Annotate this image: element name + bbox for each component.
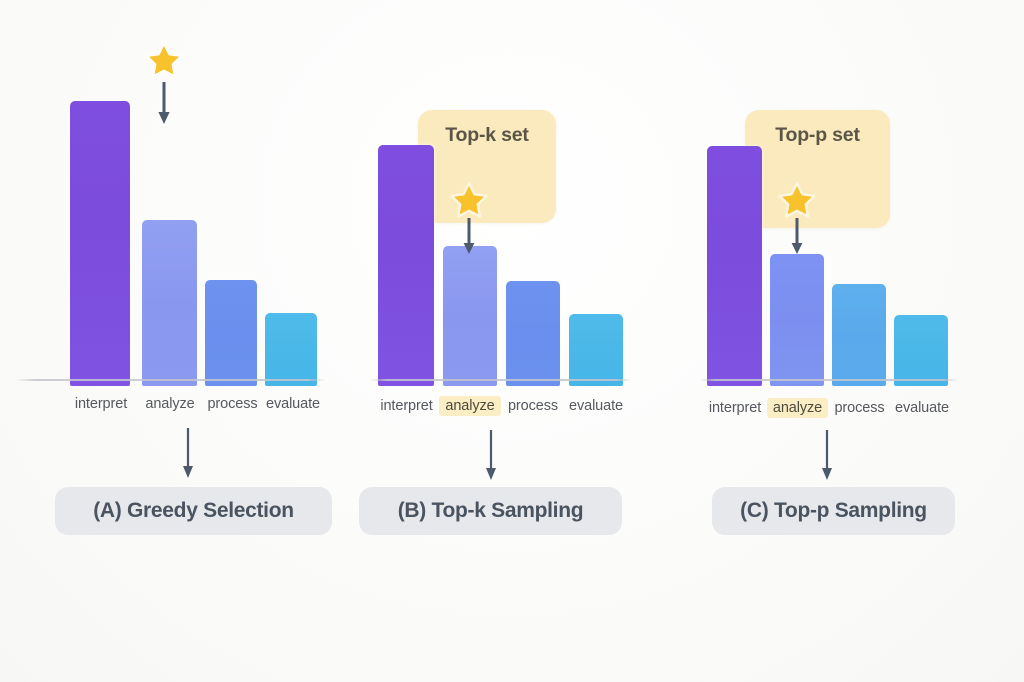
bar-group-a: [8, 96, 342, 386]
x-tick-process-a: process: [201, 394, 264, 414]
star-icon: [144, 40, 184, 80]
figure-canvas: interpret analyze process evaluate (A) G…: [0, 0, 1024, 682]
axis-baseline-b: [370, 379, 632, 381]
caption-pill-c[interactable]: (C) Top-p Sampling: [712, 487, 955, 535]
caption-label-b: (B) Top-k Sampling: [398, 499, 584, 523]
bar-evaluate-a[interactable]: [265, 313, 317, 386]
bar-interpret-c[interactable]: [707, 146, 762, 386]
bar-process-a[interactable]: [205, 280, 257, 386]
x-tick-process-c: process: [828, 398, 891, 418]
down-arrow-icon: [787, 218, 807, 256]
x-axis-labels-c: interpret analyze process evaluate: [680, 398, 1014, 424]
caption-pill-b[interactable]: (B) Top-k Sampling: [359, 487, 622, 535]
bar-chart-c: [680, 96, 1014, 394]
bar-process-b[interactable]: [506, 281, 560, 386]
x-axis-labels-b: interpret analyze process evaluate: [345, 396, 679, 422]
bar-analyze-b[interactable]: [443, 246, 497, 386]
x-tick-analyze-c: analyze: [767, 398, 828, 418]
bar-interpret-b[interactable]: [378, 145, 434, 386]
down-arrow-icon: [459, 218, 479, 256]
x-tick-process-b: process: [501, 396, 565, 416]
bar-interpret-a[interactable]: [70, 101, 130, 386]
x-tick-interpret-a: interpret: [62, 394, 140, 414]
x-tick-analyze-b: analyze: [439, 396, 501, 416]
caption-down-arrow-c: [817, 430, 837, 482]
bar-group-b: [345, 96, 679, 386]
panel-b: Top-k set interpret analyze process e: [345, 0, 679, 682]
x-tick-evaluate-c: evaluate: [889, 398, 955, 418]
x-tick-evaluate-b: evaluate: [563, 396, 629, 416]
x-tick-interpret-c: interpret: [699, 398, 771, 418]
bar-chart-b: [345, 96, 679, 394]
panel-a: interpret analyze process evaluate (A) G…: [8, 0, 342, 682]
bar-group-c: [680, 96, 1014, 386]
x-tick-evaluate-a: evaluate: [260, 394, 326, 414]
bar-chart-a: [8, 96, 342, 394]
bar-analyze-c[interactable]: [770, 254, 824, 386]
caption-down-arrow-b: [481, 430, 501, 482]
x-axis-labels-a: interpret analyze process evaluate: [8, 394, 342, 420]
caption-down-arrow-a: [178, 428, 198, 480]
bar-evaluate-c[interactable]: [894, 315, 948, 386]
axis-baseline-c: [699, 379, 958, 381]
caption-label-a: (A) Greedy Selection: [93, 499, 294, 523]
star-icon: [449, 180, 489, 220]
caption-pill-a[interactable]: (A) Greedy Selection: [55, 487, 332, 535]
axis-baseline-a: [16, 379, 326, 381]
x-tick-analyze-a: analyze: [137, 394, 203, 414]
star-icon: [777, 180, 817, 220]
bar-process-c[interactable]: [832, 284, 886, 386]
bar-evaluate-b[interactable]: [569, 314, 623, 386]
caption-label-c: (C) Top-p Sampling: [740, 499, 927, 523]
panel-c: Top-p set interpret analyze process e: [680, 0, 1014, 682]
down-arrow-icon: [154, 82, 174, 126]
bar-analyze-a[interactable]: [142, 220, 197, 386]
x-tick-interpret-b: interpret: [370, 396, 443, 416]
